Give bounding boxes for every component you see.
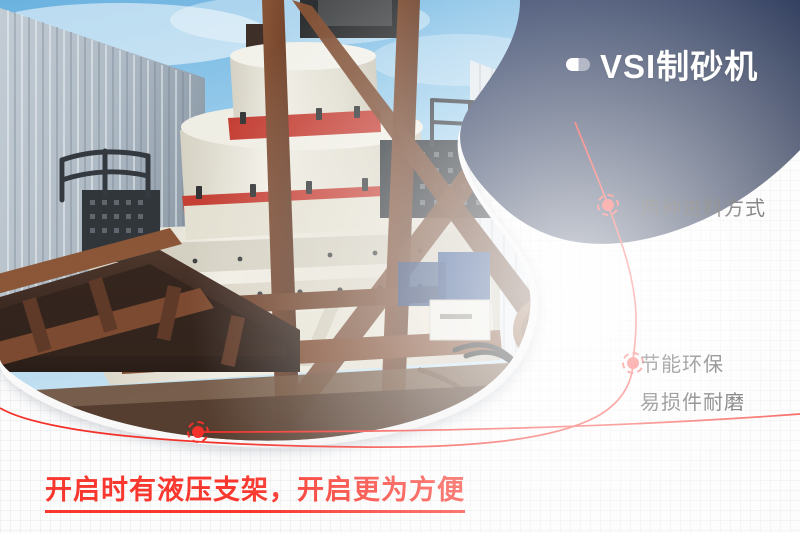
bottom-caption: 开启时有液压支架，开启更为方便 (45, 468, 465, 513)
marker-dot-caption[interactable] (187, 421, 209, 443)
connector-line-upper (575, 122, 636, 363)
promo-banner: VSI制砂机 两种进料方式 节能环保 易损件耐磨 开启时有液压支架，开启更为方便 (0, 0, 800, 533)
red-dot-icon (192, 426, 204, 438)
feature-label-eco: 节能环保 (640, 348, 724, 377)
red-connector-lines (0, 0, 800, 533)
red-dot-icon (627, 357, 639, 369)
marker-dot-feed[interactable] (597, 194, 619, 216)
red-dot-icon (602, 199, 614, 211)
feature-label-wear: 易损件耐磨 (640, 386, 745, 415)
feature-label-feed: 两种进料方式 (640, 192, 766, 221)
connector-line-bottom (198, 414, 800, 432)
connector-line-lower (0, 363, 633, 447)
